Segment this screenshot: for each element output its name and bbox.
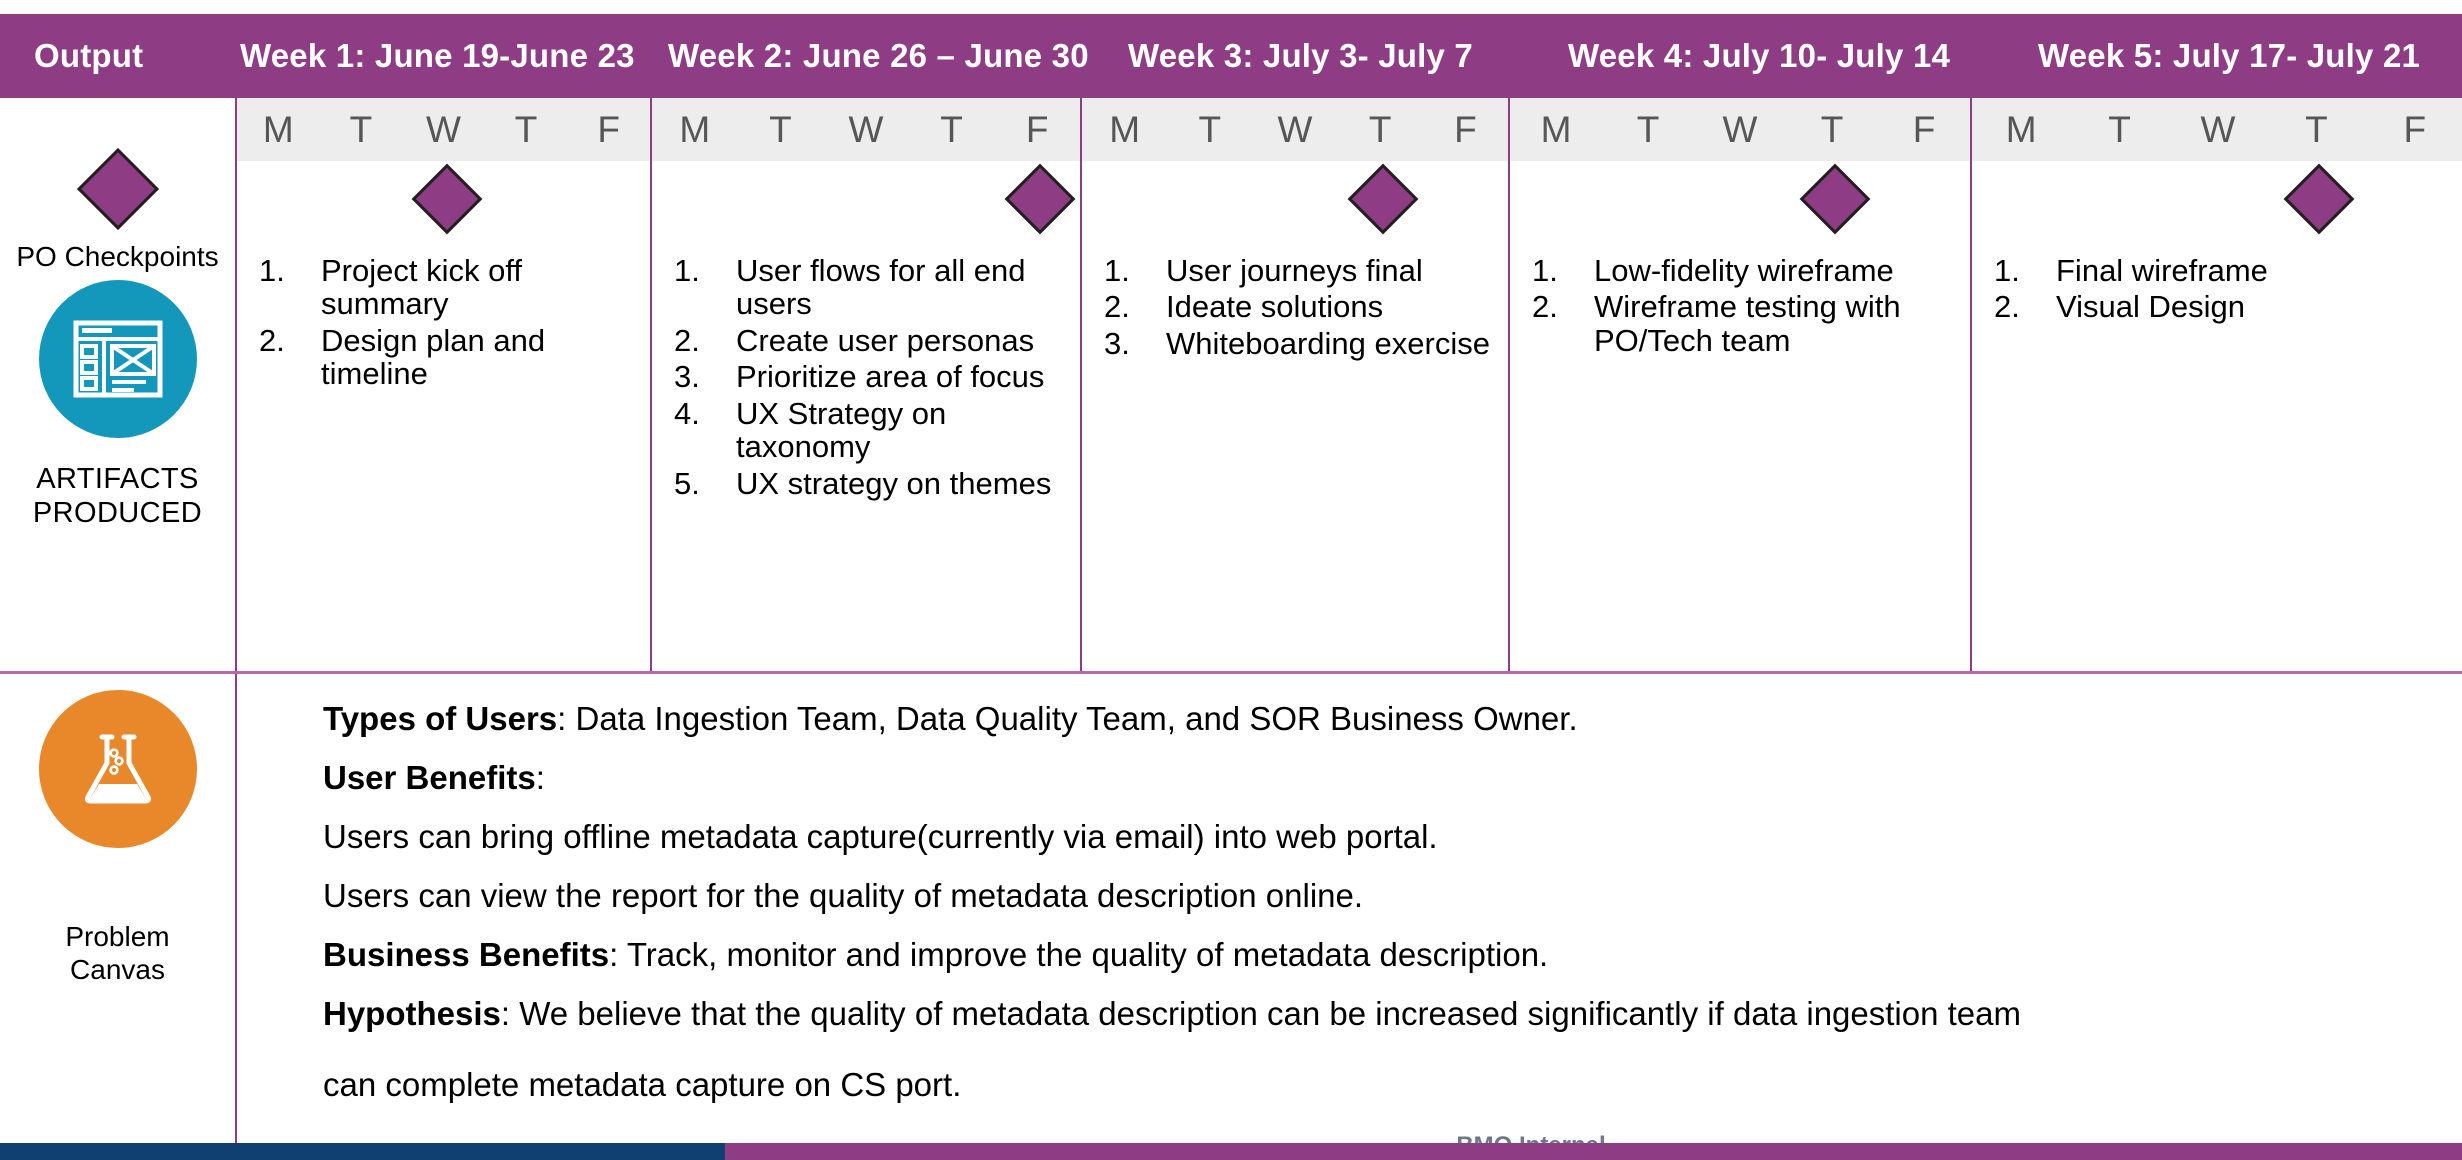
canvas-line-rest: Users can view the report for the qualit… [323,877,1363,914]
day-letter-tue: T [738,109,824,151]
week-columns: M T W T F 1. Project kick off summary 2.… [235,98,2462,673]
canvas-line-rest: : Data Ingestion Team, Data Quality Team… [557,700,1577,737]
po-checkpoint-diamond-week-2 [1005,164,1076,235]
header-week-2: Week 2: June 26 – June 30 [648,37,1078,75]
canvas-line-hypothesis-cont: can complete metadata capture on CS port… [323,1068,2462,1101]
task-list-week-2: 1. User flows for all end users 2. Creat… [652,236,1080,503]
task-item: 2. Wireframe testing with PO/Tech team [1532,290,1956,357]
day-letters-row-week-4: M T W T F [1510,98,1970,161]
task-text: Design plan and timeline [321,324,636,391]
day-letters-row-week-5: M T W T F [1972,98,2462,161]
task-text: Visual Design [2056,290,2450,323]
canvas-line-user-benefits: User Benefits: [323,761,2462,794]
task-item: 4. UX Strategy on taxonomy [674,397,1066,464]
header-week-4: Week 4: July 10- July 14 [1506,37,1968,75]
day-letter-tue: T [1602,109,1694,151]
legend-artifacts-produced: ARTIFACTS PRODUCED [0,280,235,530]
canvas-line-hypothesis: Hypothesis: We believe that the quality … [323,997,2462,1030]
day-letters-row-week-2: M T W T F [652,98,1080,161]
task-text: Ideate solutions [1166,290,1494,323]
milestone-row-week-2 [652,161,1080,236]
canvas-line-lead: Types of Users [323,700,557,737]
problem-canvas-text: Types of Users: Data Ingestion Team, Dat… [235,674,2462,1129]
task-text: Wireframe testing with PO/Tech team [1594,290,1956,357]
day-letter-mon: M [1082,109,1167,151]
task-number: 1. [674,254,736,321]
day-letter-wed: W [2169,109,2267,151]
day-letter-tue: T [320,109,403,151]
task-text: UX Strategy on taxonomy [736,397,1066,464]
task-item: 2. Ideate solutions [1104,290,1494,323]
day-letter-thu: T [1786,109,1878,151]
day-letter-thu: T [1338,109,1423,151]
task-item: 2. Design plan and timeline [259,324,636,391]
top-white-strip [0,0,2462,14]
canvas-line-lead: Hypothesis [323,995,501,1032]
task-text: Project kick off summary [321,254,636,321]
task-number: 1. [1532,254,1594,287]
po-checkpoint-diamond-week-3 [1348,164,1419,235]
canvas-line-rest: : Track, monitor and improve the quality… [609,936,1548,973]
task-number: 3. [1104,327,1166,360]
footer-bar-purple [725,1143,2462,1160]
day-letter-tue: T [2070,109,2168,151]
header-output-label: Output [0,37,235,75]
milestone-row-week-3 [1082,161,1508,236]
purple-diamond-icon [76,148,158,230]
task-number: 2. [1532,290,1594,357]
milestone-row-week-1 [237,161,650,236]
day-letters-row-week-3: M T W T F [1082,98,1508,161]
legend-artifacts-label-line2: PRODUCED [0,496,235,530]
week-column-1: M T W T F 1. Project kick off summary 2.… [237,98,650,673]
po-checkpoint-diamond-week-1 [411,164,482,235]
task-number: 1. [1104,254,1166,287]
header-week-1: Week 1: June 19-June 23 [235,37,648,75]
week-column-2: M T W T F 1. User flows for all end user… [650,98,1080,673]
day-letters-row-week-1: M T W T F [237,98,650,161]
legend-po-checkpoints-label: PO Checkpoints [0,240,235,273]
legend-problem-canvas-label-line1: Problem [0,920,235,953]
task-item: 1. User flows for all end users [674,254,1066,321]
canvas-line-rest: Users can bring offline metadata capture… [323,818,1438,855]
day-letter-wed: W [1252,109,1337,151]
day-letter-fri: F [567,109,650,151]
task-list-week-5: 1. Final wireframe 2. Visual Design [1972,236,2462,327]
task-number: 3. [674,360,736,393]
task-item: 1. User journeys final [1104,254,1494,287]
legend-problem-canvas-label-line2: Canvas [0,953,235,986]
canvas-line-rest: : [536,759,545,796]
task-item: 1. Final wireframe [1994,254,2450,287]
task-number: 2. [1104,290,1166,323]
task-item: 1. Low-fidelity wireframe [1532,254,1956,287]
milestone-row-week-4 [1510,161,1970,236]
canvas-line-types-of-users: Types of Users: Data Ingestion Team, Dat… [323,702,2462,735]
legend-rail: PO Checkpoints ARTI [0,98,235,673]
week-column-5: M T W T F 1. Final wireframe 2. Visual D… [1970,98,2462,673]
canvas-line-rest: : We believe that the quality of metadat… [501,995,2021,1032]
task-number: 4. [674,397,736,464]
task-number: 2. [1994,290,2056,323]
day-letter-tue: T [1167,109,1252,151]
legend-problem-canvas: Problem Canvas [0,690,235,986]
day-letter-wed: W [823,109,909,151]
day-letter-mon: M [652,109,738,151]
legend-po-checkpoints: PO Checkpoints [0,160,235,273]
task-number: 2. [259,324,321,391]
day-letter-mon: M [1510,109,1602,151]
task-text: User flows for all end users [736,254,1066,321]
task-item: 2. Visual Design [1994,290,2450,323]
day-letter-thu: T [2267,109,2365,151]
task-text: UX strategy on themes [736,467,1066,500]
canvas-line-benefit-2: Users can view the report for the qualit… [323,879,2462,912]
problem-canvas-rail: Problem Canvas [0,674,235,1129]
task-number: 1. [259,254,321,321]
day-letter-wed: W [402,109,485,151]
task-item: 3. Whiteboarding exercise [1104,327,1494,360]
day-letter-fri: F [1423,109,1508,151]
task-item: 5. UX strategy on themes [674,467,1066,500]
task-item: 2. Create user personas [674,324,1066,357]
canvas-line-rest: can complete metadata capture on CS port… [323,1066,961,1103]
task-number: 5. [674,467,736,500]
task-text: Final wireframe [2056,254,2450,287]
timeline-grid: PO Checkpoints ARTI [0,98,2462,673]
day-letter-thu: T [485,109,568,151]
header-week-3: Week 3: July 3- July 7 [1078,37,1506,75]
flask-beaker-icon [39,690,197,848]
task-number: 2. [674,324,736,357]
footer-bar [0,1143,2462,1160]
day-letter-mon: M [237,109,320,151]
task-text: User journeys final [1166,254,1494,287]
task-list-week-4: 1. Low-fidelity wireframe 2. Wireframe t… [1510,236,1970,360]
canvas-line-lead: Business Benefits [323,936,609,973]
week-column-3: M T W T F 1. User journeys final 2. Idea… [1080,98,1508,673]
legend-artifacts-label-line1: ARTIFACTS [0,462,235,496]
day-letter-mon: M [1972,109,2070,151]
day-letter-thu: T [909,109,995,151]
canvas-line-business-benefits: Business Benefits: Track, monitor and im… [323,938,2462,971]
week-column-4: M T W T F 1. Low-fidelity wireframe 2. W… [1508,98,1970,673]
task-list-week-1: 1. Project kick off summary 2. Design pl… [237,236,650,394]
task-list-week-3: 1. User journeys final 2. Ideate solutio… [1082,236,1508,363]
problem-canvas-section: Problem Canvas Types of Users: Data Inge… [0,674,2462,1129]
po-checkpoint-diamond-week-5 [2284,164,2355,235]
task-item: 3. Prioritize area of focus [674,360,1066,393]
canvas-line-lead: User Benefits [323,759,536,796]
day-letter-wed: W [1694,109,1786,151]
task-text: Low-fidelity wireframe [1594,254,1956,287]
task-number: 1. [1994,254,2056,287]
day-letter-fri: F [1878,109,1970,151]
footer-bar-navy [0,1143,725,1160]
day-letter-fri: F [994,109,1080,151]
task-text: Whiteboarding exercise [1166,327,1494,360]
task-item: 1. Project kick off summary [259,254,636,321]
day-letter-fri: F [2366,109,2462,151]
milestone-row-week-5 [1972,161,2462,236]
po-checkpoint-diamond-week-4 [1800,164,1871,235]
timeline-header-band: Output Week 1: June 19-June 23 Week 2: J… [0,14,2462,98]
header-week-5: Week 5: July 17- July 21 [1968,37,2462,75]
wireframe-layout-icon [39,280,197,438]
canvas-line-benefit-1: Users can bring offline metadata capture… [323,820,2462,853]
task-text: Create user personas [736,324,1066,357]
task-text: Prioritize area of focus [736,360,1066,393]
